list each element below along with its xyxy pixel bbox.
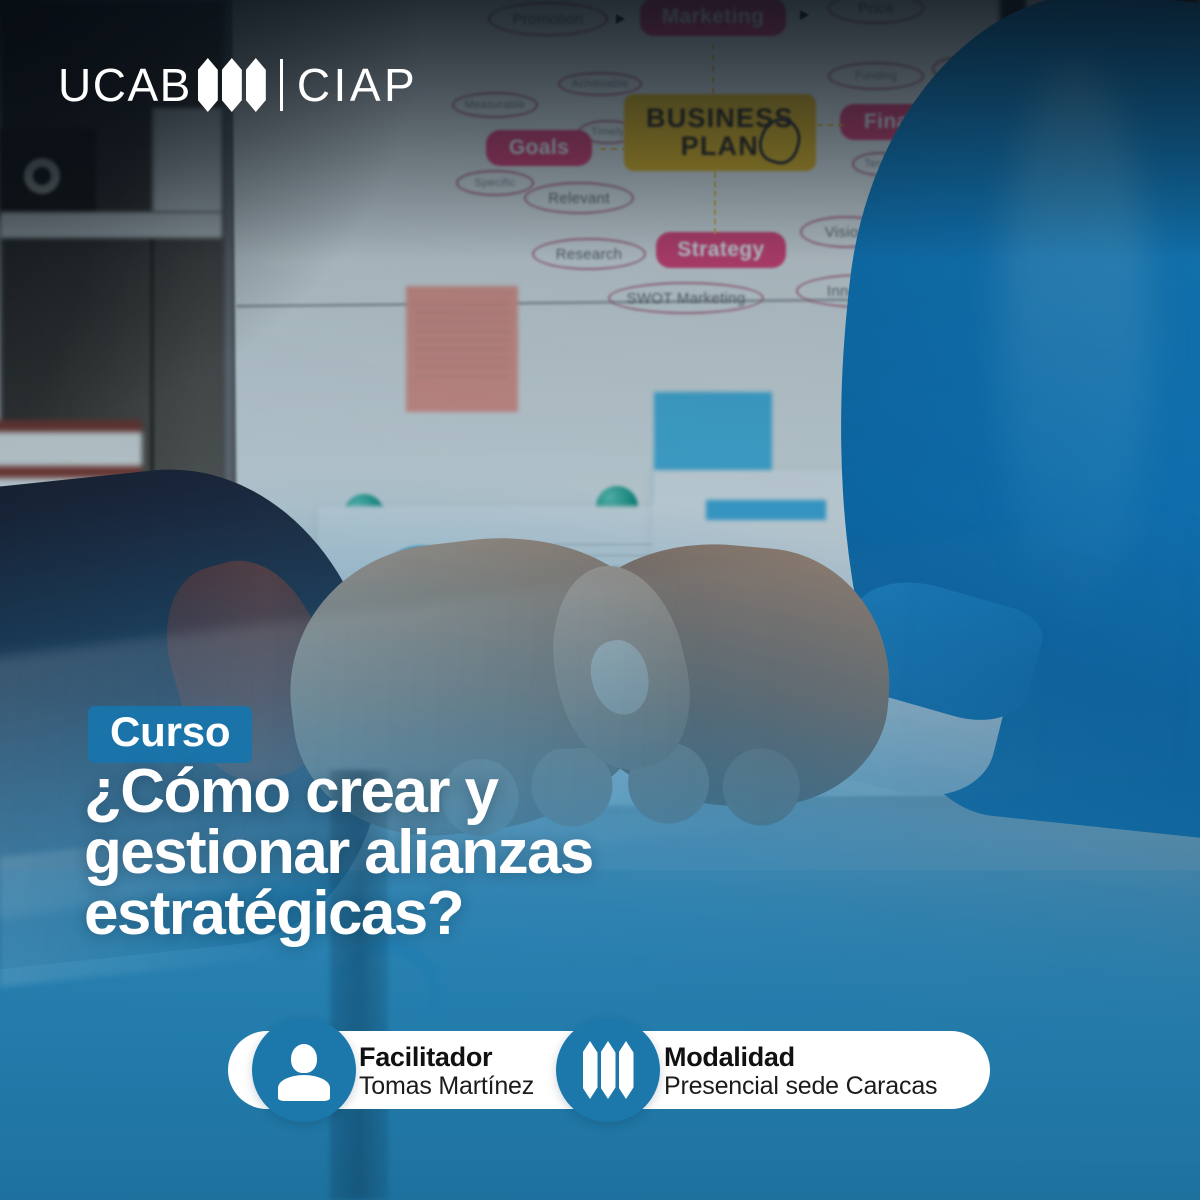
- facilitator-icon-circle: [252, 1018, 356, 1122]
- modality-icon-circle: [556, 1018, 660, 1122]
- ucab-leaf-mark-icon: [583, 1041, 634, 1099]
- logo-ucab-text: UCAB: [58, 58, 192, 112]
- facilitator-value: Tomas Martínez: [359, 1072, 534, 1100]
- course-type-badge: Curso: [88, 706, 252, 763]
- avatar-icon: [278, 1044, 330, 1096]
- modality-value: Presencial sede Caracas: [664, 1072, 937, 1100]
- modality-field: Modalidad Presencial sede Caracas: [664, 1044, 937, 1100]
- promotional-poster: Promotion Marketing Price Measurable Ach…: [0, 0, 1200, 1200]
- title-line-3: estratégicas?: [84, 884, 593, 945]
- title-line-1: ¿Cómo crear y: [84, 762, 593, 823]
- page-title: ¿Cómo crear y gestionar alianzas estraté…: [84, 762, 593, 944]
- facilitator-label: Facilitador: [359, 1044, 534, 1072]
- ucab-leaf-mark-icon: [198, 58, 266, 112]
- logo-ciap-text: CIAP: [297, 58, 418, 112]
- brand-logo[interactable]: UCAB CIAP: [58, 58, 418, 112]
- modality-label: Modalidad: [664, 1044, 937, 1072]
- title-line-2: gestionar alianzas: [84, 823, 593, 884]
- logo-divider: [280, 59, 283, 111]
- facilitator-field: Facilitador Tomas Martínez: [359, 1044, 534, 1100]
